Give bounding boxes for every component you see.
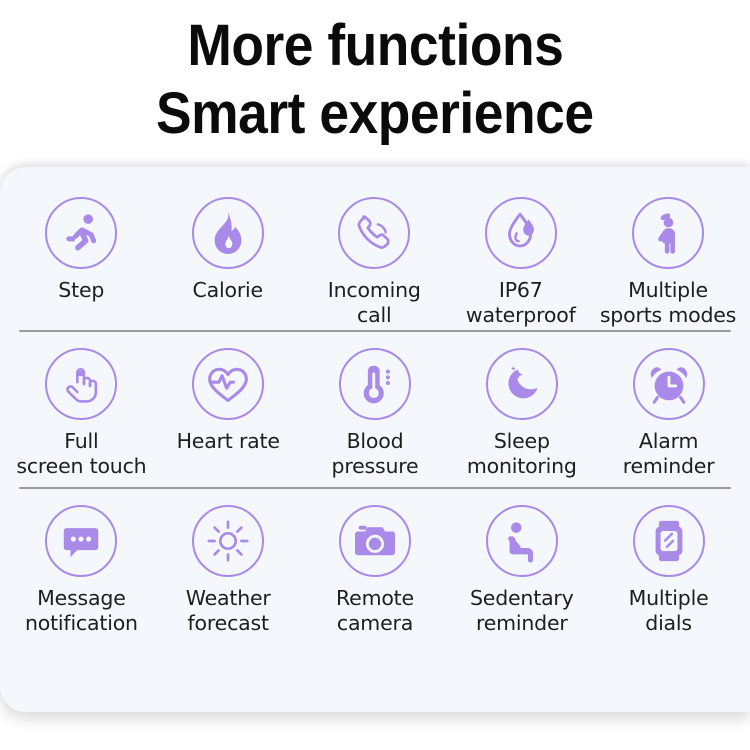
feature-label: Multiple dials (629, 586, 709, 636)
feature-label: Weather forecast (186, 586, 271, 636)
smartwatch-icon (633, 505, 705, 577)
feature-item-blood-pressure[interactable]: Blood pressure (302, 348, 449, 479)
flame-icon (192, 197, 264, 269)
feature-item-step[interactable]: Step (8, 197, 155, 303)
feature-item-multiple-dials[interactable]: Multiple dials (595, 505, 742, 636)
page-title: More functions Smart experience (0, 0, 750, 160)
feature-label: IP67 waterproof (466, 278, 576, 328)
feature-label: Calorie (193, 278, 263, 303)
feature-label: Incoming call (328, 278, 421, 328)
feature-card: Step Calorie (0, 167, 750, 712)
feature-row-3: Message notification Weather forecast (0, 489, 750, 644)
feature-item-waterproof[interactable]: IP67 waterproof (448, 197, 595, 328)
camera-icon (339, 505, 411, 577)
feature-item-calorie[interactable]: Calorie (155, 197, 302, 303)
touch-hand-icon (45, 348, 117, 420)
sun-icon (192, 505, 264, 577)
feature-row-1: Step Calorie (0, 175, 750, 330)
feature-label: Heart rate (177, 429, 280, 454)
page-title-line-1: More functions (187, 13, 563, 79)
feature-item-full-screen-touch[interactable]: Full screen touch (8, 348, 155, 479)
feature-item-incoming-call[interactable]: Incoming call (301, 197, 448, 328)
feature-item-heart-rate[interactable]: Heart rate (155, 348, 302, 454)
moon-stars-icon (486, 348, 558, 420)
thermometer-icon (339, 348, 411, 420)
feature-item-sleep-monitoring[interactable]: Sleep monitoring (448, 348, 595, 479)
feature-item-message-notification[interactable]: Message notification (8, 505, 155, 636)
feature-label: Remote camera (336, 586, 414, 636)
message-bubble-icon (45, 505, 117, 577)
feature-item-weather-forecast[interactable]: Weather forecast (155, 505, 302, 636)
heart-pulse-icon (192, 348, 264, 420)
water-drop-icon (485, 197, 557, 269)
feature-label: Sedentary reminder (470, 586, 574, 636)
alarm-clock-icon (633, 348, 705, 420)
feature-label: Full screen touch (16, 429, 146, 479)
feature-label: Alarm reminder (623, 429, 715, 479)
stretching-person-icon (632, 197, 704, 269)
feature-label: Sleep monitoring (467, 429, 577, 479)
running-person-icon (45, 197, 117, 269)
feature-item-sedentary-reminder[interactable]: Sedentary reminder (448, 505, 595, 636)
feature-highlight-page: More functions Smart experience Step (0, 0, 750, 750)
feature-row-2: Full screen touch Heart rate (0, 332, 750, 487)
feature-label: Message notification (25, 586, 138, 636)
feature-item-alarm-reminder[interactable]: Alarm reminder (595, 348, 742, 479)
feature-label: Step (58, 278, 104, 303)
feature-label: Multiple sports modes (584, 278, 750, 328)
feature-label: Blood pressure (332, 429, 419, 479)
page-title-line-2: Smart experience (156, 81, 594, 147)
feature-item-sports-modes[interactable]: Multiple sports modes (594, 197, 742, 328)
sitting-person-icon (486, 505, 558, 577)
feature-item-remote-camera[interactable]: Remote camera (302, 505, 449, 636)
phone-call-icon (338, 197, 410, 269)
